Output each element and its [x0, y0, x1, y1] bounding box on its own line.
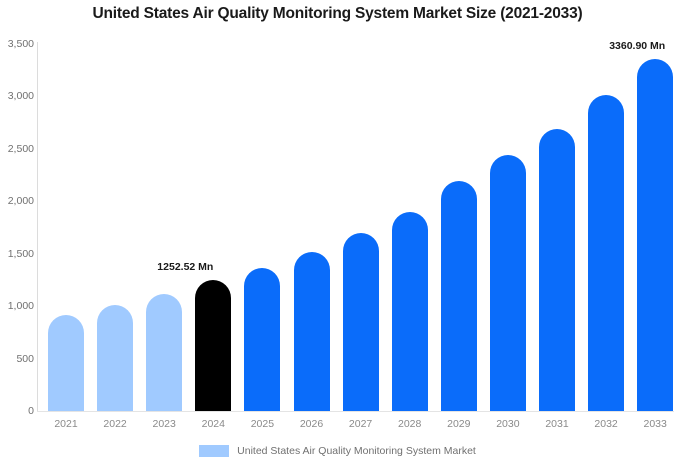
bar-2033[interactable] — [637, 59, 673, 411]
x-axis-tick-label-2027: 2027 — [338, 418, 384, 430]
bar-2026[interactable] — [294, 252, 330, 411]
legend-swatch-market — [199, 445, 229, 457]
y-axis-tick-label: 500 — [0, 353, 34, 365]
bar-2023[interactable] — [146, 294, 182, 411]
chart-title: United States Air Quality Monitoring Sys… — [0, 5, 675, 23]
x-axis-tick-label-2023: 2023 — [141, 418, 187, 430]
bar-2031[interactable] — [539, 129, 575, 411]
x-axis-tick-label-2024: 2024 — [190, 418, 236, 430]
y-axis-tick-label: 2,500 — [0, 143, 34, 155]
x-axis-tick-label-2026: 2026 — [289, 418, 335, 430]
bar-value-label-2033: 3360.90 Mn — [609, 40, 665, 52]
bar-2021[interactable] — [48, 315, 84, 411]
x-axis-tick-label-2031: 2031 — [534, 418, 580, 430]
x-axis-tick-label-2025: 2025 — [239, 418, 285, 430]
bar-2022[interactable] — [97, 305, 133, 411]
y-axis-tick-label: 0 — [0, 405, 34, 417]
bar-2028[interactable] — [392, 212, 428, 411]
y-axis-tick-label: 1,000 — [0, 300, 34, 312]
legend-label-market: United States Air Quality Monitoring Sys… — [237, 445, 476, 457]
y-axis-tick-label: 1,500 — [0, 248, 34, 260]
bar-2025[interactable] — [244, 268, 280, 411]
y-axis-tick-label: 2,000 — [0, 195, 34, 207]
x-axis-tick-label-2032: 2032 — [583, 418, 629, 430]
x-axis-tick-label-2029: 2029 — [436, 418, 482, 430]
bar-chart: United States Air Quality Monitoring Sys… — [0, 0, 675, 469]
y-axis-tick-label: 3,500 — [0, 38, 34, 50]
y-axis: 3,5003,0002,5002,0001,5001,0005000 — [0, 0, 34, 469]
x-axis-tick-label-2021: 2021 — [43, 418, 89, 430]
x-axis-tick-label-2028: 2028 — [387, 418, 433, 430]
x-axis-tick-label-2022: 2022 — [92, 418, 138, 430]
bar-2032[interactable] — [588, 95, 624, 411]
bar-2030[interactable] — [490, 155, 526, 411]
y-axis-tick-label: 3,000 — [0, 90, 34, 102]
x-axis-tick-label-2030: 2030 — [485, 418, 531, 430]
chart-legend: United States Air Quality Monitoring Sys… — [0, 445, 675, 457]
bar-value-label-2024: 1252.52 Mn — [157, 261, 213, 273]
bar-2029[interactable] — [441, 181, 477, 411]
bar-2024[interactable] — [195, 280, 231, 411]
bar-2027[interactable] — [343, 233, 379, 411]
x-axis-tick-label-2033: 2033 — [632, 418, 675, 430]
